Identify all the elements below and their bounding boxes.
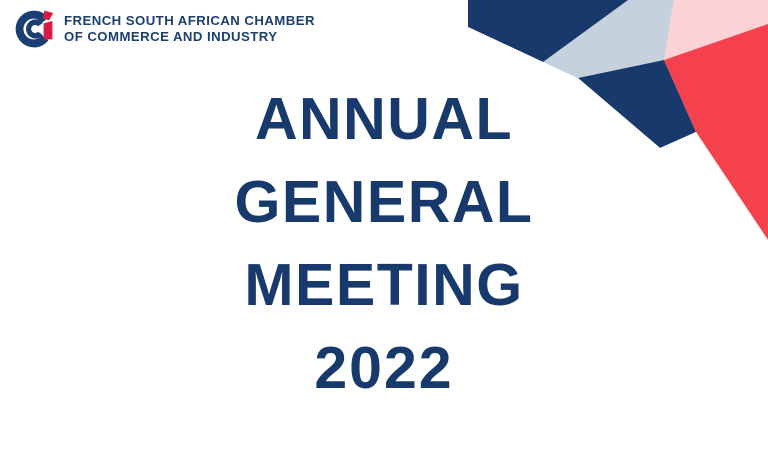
page-title: ANNUAL GENERAL MEETING 2022 bbox=[0, 78, 768, 410]
cci-logo-icon bbox=[14, 9, 54, 49]
pink-wedge bbox=[664, 0, 768, 60]
light-blue-wedge bbox=[543, 0, 674, 78]
title-line-year: 2022 bbox=[0, 327, 768, 410]
chamber-logo[interactable]: FRENCH SOUTH AFRICAN CHAMBER OF COMMERCE… bbox=[14, 9, 315, 49]
title-line-annual: ANNUAL bbox=[0, 78, 768, 161]
chamber-logo-line-1: FRENCH SOUTH AFRICAN CHAMBER bbox=[64, 13, 315, 29]
title-line-general: GENERAL bbox=[0, 161, 768, 244]
navy-upper-wedge bbox=[468, 0, 628, 78]
title-line-meeting: MEETING bbox=[0, 244, 768, 327]
poster-canvas: FRENCH SOUTH AFRICAN CHAMBER OF COMMERCE… bbox=[0, 0, 768, 466]
chamber-logo-line-2: OF COMMERCE AND INDUSTRY bbox=[64, 29, 315, 45]
chamber-logo-text: FRENCH SOUTH AFRICAN CHAMBER OF COMMERCE… bbox=[64, 13, 315, 44]
